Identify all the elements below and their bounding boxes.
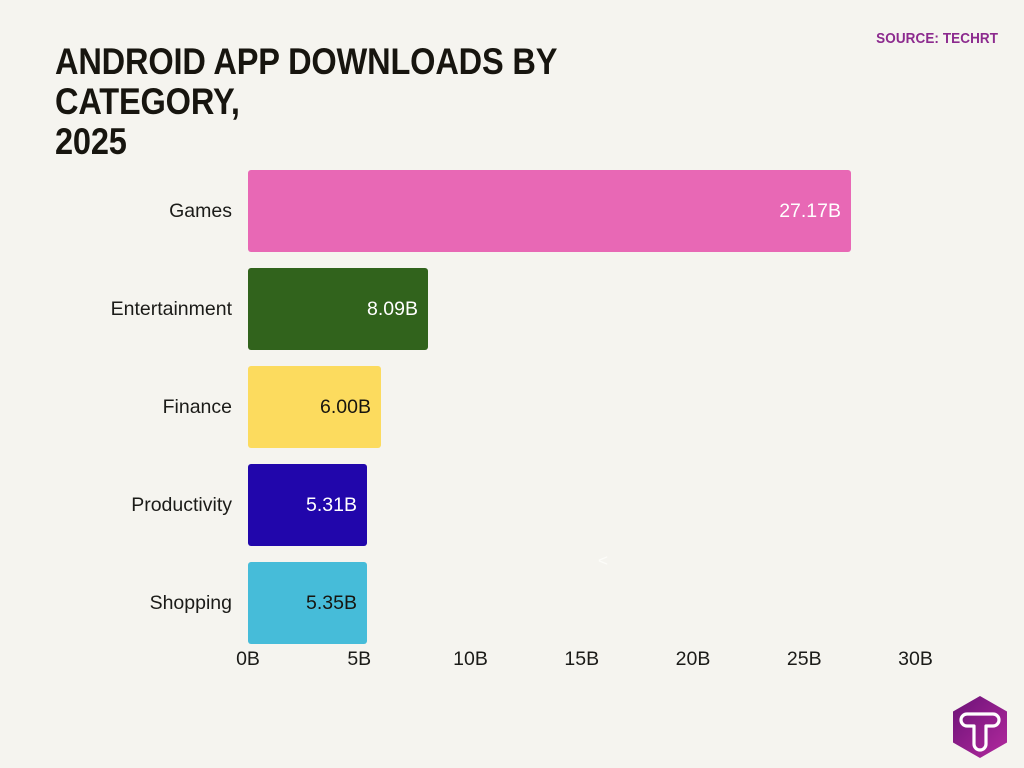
x-tick-label: 0B: [208, 648, 288, 671]
bar-value-productivity: 5.31B: [306, 464, 357, 546]
bar-value-games: 27.17B: [779, 170, 841, 252]
category-label-productivity: Productivity: [0, 464, 232, 546]
bar-finance[interactable]: 6.00B: [248, 366, 381, 448]
bar-entertainment[interactable]: 8.09B: [248, 268, 428, 350]
x-tick-label: 5B: [319, 648, 399, 671]
category-label-finance: Finance: [0, 366, 232, 448]
x-tick-label: 25B: [764, 648, 844, 671]
x-tick-label: 15B: [542, 648, 622, 671]
bar-shopping[interactable]: 5.35B: [248, 562, 367, 644]
bar-value-shopping: 5.35B: [306, 562, 357, 644]
x-tick-label: 30B: [876, 648, 956, 671]
category-label-games: Games: [0, 170, 232, 252]
category-label-entertainment: Entertainment: [0, 268, 232, 350]
x-tick-label: 10B: [431, 648, 511, 671]
x-axis: 0B5B10B15B20B25B30B: [0, 648, 1024, 680]
bar-games[interactable]: 27.17B: [248, 170, 851, 252]
bar-value-finance: 6.00B: [320, 366, 371, 448]
watermark-glyph: <: [598, 551, 608, 571]
bar-value-entertainment: 8.09B: [367, 268, 418, 350]
category-label-shopping: Shopping: [0, 562, 232, 644]
bar-productivity[interactable]: 5.31B: [248, 464, 367, 546]
x-tick-label: 20B: [653, 648, 733, 671]
techrt-logo[interactable]: [949, 694, 1011, 760]
chart-canvas: ANDROID APP DOWNLOADS BY CATEGORY, 2025 …: [0, 0, 1024, 768]
